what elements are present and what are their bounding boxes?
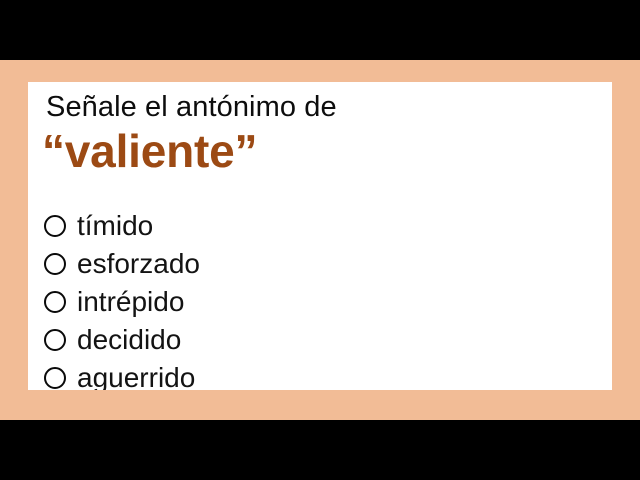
answer-option[interactable]: tímido (44, 207, 604, 245)
answer-option-label: esforzado (77, 249, 200, 279)
answer-option[interactable]: decidido (44, 321, 604, 359)
letterbox-bottom (0, 420, 640, 480)
answer-option-label: tímido (77, 211, 153, 241)
question-prompt: Señale el antónimo de (46, 90, 337, 124)
answer-option[interactable]: intrépido (44, 283, 604, 321)
radio-unselected-icon[interactable] (44, 253, 66, 275)
question-card: Señale el antónimo de “valiente” tímido … (28, 82, 612, 390)
target-word: “valiente” (42, 124, 257, 178)
radio-unselected-icon[interactable] (44, 367, 66, 389)
answer-option-label: intrépido (77, 287, 184, 317)
letterbox-top (0, 0, 640, 60)
answer-option-label: decidido (77, 325, 181, 355)
answer-option[interactable]: aguerrido (44, 359, 604, 390)
answer-option[interactable]: esforzado (44, 245, 604, 283)
answer-options-list: tímido esforzado intrépido decidido ague (44, 207, 604, 390)
radio-unselected-icon[interactable] (44, 291, 66, 313)
radio-unselected-icon[interactable] (44, 215, 66, 237)
slide-stage: Señale el antónimo de “valiente” tímido … (0, 0, 640, 480)
radio-unselected-icon[interactable] (44, 329, 66, 351)
slide-frame: Señale el antónimo de “valiente” tímido … (0, 60, 640, 420)
answer-option-label: aguerrido (77, 363, 195, 390)
